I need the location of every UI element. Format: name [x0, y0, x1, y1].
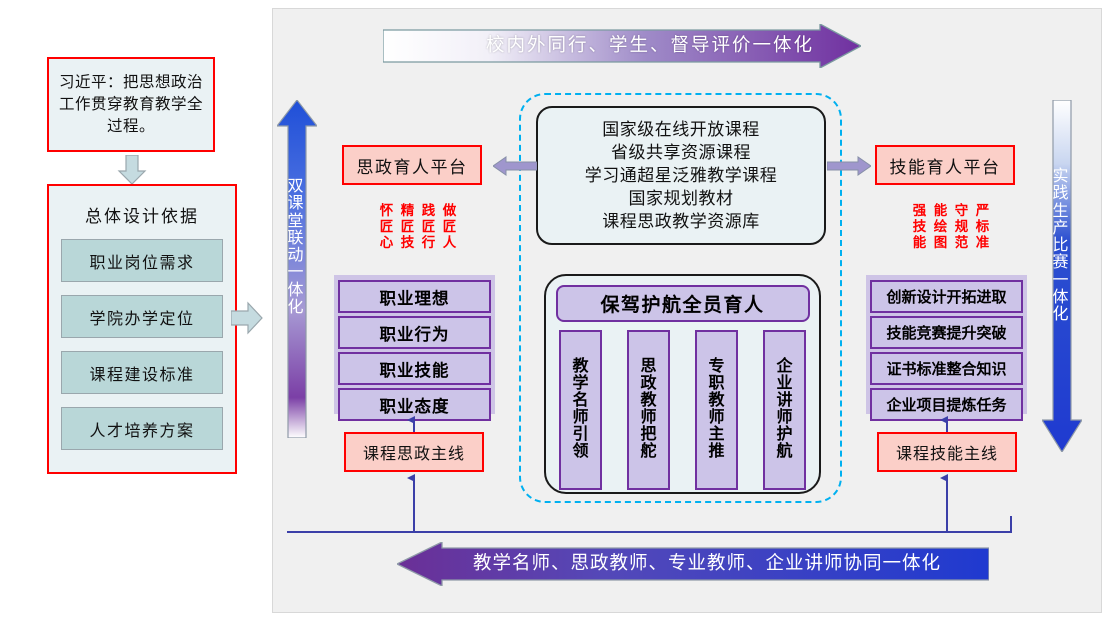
vchar: 师 — [708, 410, 724, 427]
bottom-banner-label: 教学名师、思政教师、专业教师、企业讲师协同一体化 — [432, 551, 982, 577]
vchar: 能 — [913, 235, 927, 251]
vchar: 严 — [976, 203, 990, 219]
vchar: 教 — [572, 359, 588, 376]
vchar: 赛 — [1046, 254, 1076, 271]
vchar: 匠 — [380, 219, 394, 235]
vchar: 一 — [281, 264, 311, 281]
vchar: 化 — [281, 299, 311, 316]
quote-text: 习近平：把思想政治工作贯穿教育教学全过程。 — [49, 72, 213, 138]
skill-mainline-box: 课程技能主线 — [877, 432, 1017, 472]
vchar: 双 — [281, 178, 311, 195]
vchar: 把 — [640, 427, 656, 444]
vchar: 主 — [708, 427, 724, 444]
skill-platform-box: 技能育人平台 — [875, 145, 1015, 185]
vchar: 动 — [281, 247, 311, 264]
vchar: 学 — [572, 376, 588, 393]
vchar: 护 — [776, 427, 792, 444]
left-slogan: 怀 匠 心 精 匠 技 践 匠 行 做 匠 人 — [379, 203, 457, 251]
all-staff-education-box: 保驾护航全员育人 教 学 名 师 引 领 思 政 教 师 把 — [544, 274, 821, 494]
vchar: 生 — [1046, 203, 1076, 220]
list-item: 职业行为 — [338, 316, 491, 349]
course-item: 课程思政教学资源库 — [602, 210, 760, 233]
right-vertical-arrow-label: 实 践 生 产 比 赛 一 体 化 — [1046, 168, 1076, 323]
vchar: 比 — [1046, 237, 1076, 254]
quote-box: 习近平：把思想政治工作贯穿教育教学全过程。 — [47, 57, 215, 152]
vchar: 教 — [708, 393, 724, 410]
slogan-column: 严 标 准 — [975, 203, 990, 251]
vchar: 践 — [1046, 185, 1076, 202]
vchar: 职 — [708, 376, 724, 393]
vchar: 做 — [443, 203, 457, 219]
course-item: 国家级在线开放课程 — [602, 118, 760, 141]
vchar: 匠 — [422, 219, 436, 235]
list-item: 创新设计开拓进取 — [870, 280, 1023, 313]
pillar-group: 教 学 名 师 引 领 思 政 教 师 把 舵 — [559, 330, 806, 490]
vchar: 规 — [955, 219, 969, 235]
course-resources-box: 国家级在线开放课程 省级共享资源课程 学习通超星泛雅教学课程 国家规划教材 课程… — [536, 106, 826, 245]
left-vertical-arrow-label: 双 课 堂 联 动 一 体 化 — [281, 178, 311, 316]
course-item: 学习通超星泛雅教学课程 — [585, 164, 778, 187]
design-basis-title: 总体设计依据 — [49, 202, 235, 227]
vchar: 怀 — [380, 203, 394, 219]
design-basis-list: 职业岗位需求 学院办学定位 课程建设标准 人才培养方案 — [61, 239, 223, 450]
vchar: 推 — [708, 444, 724, 461]
ideological-mainline-box: 课程思政主线 — [344, 432, 484, 472]
vchar: 教 — [640, 393, 656, 410]
slogan-column: 守 规 范 — [954, 203, 969, 251]
vchar: 联 — [281, 230, 311, 247]
vchar: 范 — [955, 235, 969, 251]
vchar: 师 — [640, 410, 656, 427]
list-item: 技能竞赛提升突破 — [870, 316, 1023, 349]
vchar: 技 — [401, 235, 415, 251]
list-item: 职业技能 — [338, 352, 491, 385]
vchar: 体 — [281, 282, 311, 299]
vchar: 行 — [422, 235, 436, 251]
down-chevron-icon — [117, 155, 147, 185]
vchar: 名 — [572, 393, 588, 410]
vchar: 精 — [401, 203, 415, 219]
all-staff-title: 保驾护航全员育人 — [556, 285, 810, 322]
vchar: 航 — [776, 444, 792, 461]
vchar: 一 — [1046, 272, 1076, 289]
vchar: 企 — [776, 359, 792, 376]
diagram-root: 习近平：把思想政治工作贯穿教育教学全过程。 总体设计依据 职业岗位需求 学院办学… — [0, 0, 1111, 621]
vchar: 心 — [380, 235, 394, 251]
vchar: 守 — [955, 203, 969, 219]
slogan-column: 践 匠 行 — [421, 203, 436, 251]
vchar: 绘 — [934, 219, 948, 235]
vchar: 践 — [422, 203, 436, 219]
slogan-column: 能 绘 图 — [933, 203, 948, 251]
vchar: 思 — [640, 359, 656, 376]
vchar: 能 — [934, 203, 948, 219]
vchar: 匠 — [401, 219, 415, 235]
vchar: 化 — [1046, 306, 1076, 323]
vchar: 师 — [572, 410, 588, 427]
vchar: 专 — [708, 359, 724, 376]
vchar: 图 — [934, 235, 948, 251]
vchar: 技 — [913, 219, 927, 235]
arrow-to-right-platform — [827, 155, 871, 177]
pillar-fulltime-teacher: 专 职 教 师 主 推 — [695, 330, 738, 490]
vchar: 准 — [976, 235, 990, 251]
slogan-column: 精 匠 技 — [400, 203, 415, 251]
list-item: 职业态度 — [338, 388, 491, 421]
vchar: 强 — [913, 203, 927, 219]
slogan-column: 做 匠 人 — [442, 203, 457, 251]
top-banner-label: 校内外同行、学生、督导评价一体化 — [470, 33, 830, 59]
right-chevron-icon — [231, 301, 263, 335]
list-item: 企业项目提炼任务 — [870, 388, 1023, 421]
vchar: 体 — [1046, 289, 1076, 306]
list-item: 人才培养方案 — [61, 407, 223, 450]
vchar: 堂 — [281, 213, 311, 230]
vchar: 课 — [281, 195, 311, 212]
vchar: 引 — [572, 427, 588, 444]
professional-quality-list: 职业理想 职业行为 职业技能 职业态度 — [334, 275, 495, 414]
vchar: 匠 — [443, 219, 457, 235]
pillar-teaching-master: 教 学 名 师 引 领 — [559, 330, 602, 490]
vchar: 产 — [1046, 220, 1076, 237]
slogan-column: 强 技 能 — [912, 203, 927, 251]
skill-ability-list: 创新设计开拓进取 技能竞赛提升突破 证书标准整合知识 企业项目提炼任务 — [866, 275, 1027, 414]
vchar: 政 — [640, 376, 656, 393]
course-item: 省级共享资源课程 — [611, 141, 751, 164]
list-item: 课程建设标准 — [61, 351, 223, 394]
design-basis-box: 总体设计依据 职业岗位需求 学院办学定位 课程建设标准 人才培养方案 — [47, 184, 237, 474]
vchar: 实 — [1046, 168, 1076, 185]
slogan-column: 怀 匠 心 — [379, 203, 394, 251]
list-item: 证书标准整合知识 — [870, 352, 1023, 385]
list-item: 职业岗位需求 — [61, 239, 223, 282]
vchar: 人 — [443, 235, 457, 251]
course-item: 国家规划教材 — [629, 187, 734, 210]
ideological-platform-box: 思政育人平台 — [342, 145, 482, 185]
vchar: 师 — [776, 410, 792, 427]
pillar-ideological-teacher: 思 政 教 师 把 舵 — [627, 330, 670, 490]
vchar: 舵 — [640, 444, 656, 461]
right-slogan: 强 技 能 能 绘 图 守 规 范 严 标 准 — [912, 203, 990, 251]
vchar: 业 — [776, 376, 792, 393]
vchar: 领 — [572, 444, 588, 461]
vchar: 标 — [976, 219, 990, 235]
vchar: 讲 — [776, 393, 792, 410]
list-item: 职业理想 — [338, 280, 491, 313]
pillar-enterprise-lecturer: 企 业 讲 师 护 航 — [763, 330, 806, 490]
list-item: 学院办学定位 — [61, 295, 223, 338]
arrow-to-left-platform — [493, 155, 537, 177]
